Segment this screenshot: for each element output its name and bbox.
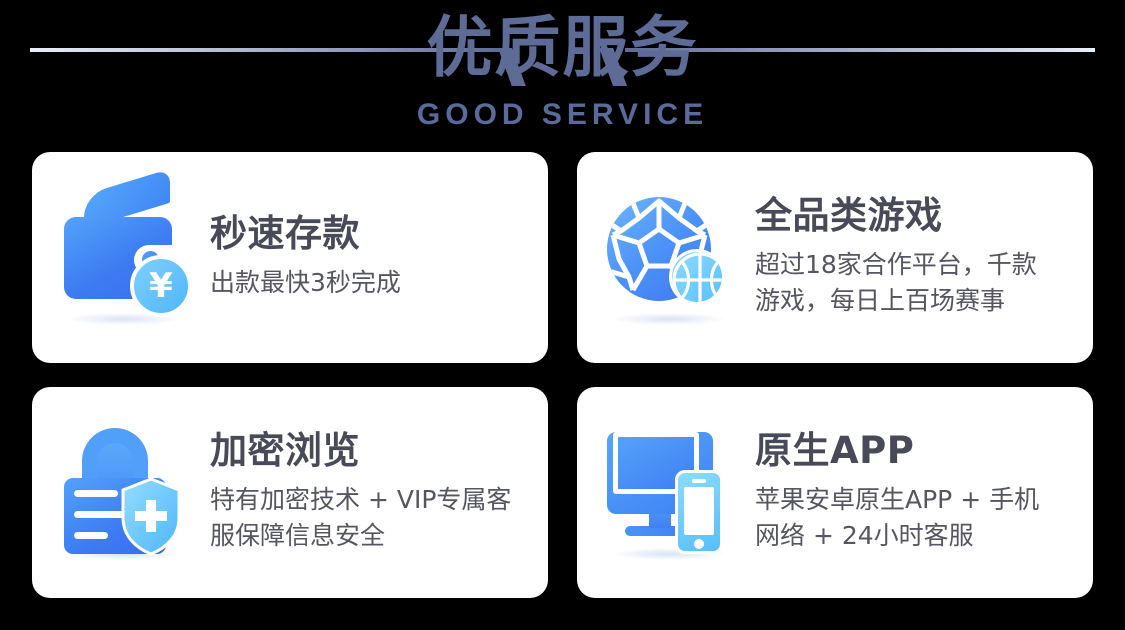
- subtitle-line: 特有加密技术 + VIP专属客: [210, 482, 538, 518]
- feature-card-text: 原生APP 苹果安卓原生APP + 手机 网络 + 24小时客服: [745, 430, 1083, 554]
- subtitle-line: 网络 + 24小时客服: [755, 518, 1083, 554]
- monitor-phone-icon: [603, 422, 745, 564]
- smartphone-icon: [675, 470, 723, 554]
- shield-plus-icon: [120, 478, 182, 556]
- subtitle-line: 超过18家合作平台，千款: [755, 247, 1083, 283]
- subtitle-line: 游戏，每日上百场赛事: [755, 283, 1083, 319]
- page-subtitle: GOOD SERVICE: [0, 98, 1125, 132]
- basketball-icon: [669, 249, 725, 305]
- lock-line-icon: [74, 532, 108, 539]
- lock-line-icon: [74, 490, 118, 497]
- phone-speaker-icon: [692, 479, 706, 483]
- feature-card-encryption[interactable]: 加密浏览 特有加密技术 + VIP专属客 服保障信息安全: [32, 387, 548, 598]
- feature-card-subtitle: 超过18家合作平台，千款 游戏，每日上百场赛事: [755, 247, 1083, 320]
- subtitle-line: 苹果安卓原生APP + 手机: [755, 482, 1083, 518]
- page-header: 优质服务 GOOD SERVICE: [0, 0, 1125, 150]
- phone-screen-icon: [684, 487, 714, 535]
- feature-card-games[interactable]: 全品类游戏 超过18家合作平台，千款 游戏，每日上百场赛事: [577, 152, 1093, 363]
- lock-shield-icon: [58, 422, 200, 564]
- feature-card-grid: ¥ 秒速存款 出款最快3秒完成: [32, 152, 1093, 598]
- wallet-coin-icon: ¥: [58, 187, 200, 329]
- feature-card-title: 原生APP: [755, 430, 1083, 473]
- feature-card-subtitle: 出款最快3秒完成: [210, 265, 538, 301]
- feature-card-text: 全品类游戏 超过18家合作平台，千款 游戏，每日上百场赛事: [745, 195, 1083, 319]
- phone-home-button-icon: [694, 539, 704, 549]
- page-title: 优质服务: [0, 8, 1125, 88]
- subtitle-line: 服保障信息安全: [210, 518, 538, 554]
- feature-card-deposit[interactable]: ¥ 秒速存款 出款最快3秒完成: [32, 152, 548, 363]
- feature-card-subtitle: 苹果安卓原生APP + 手机 网络 + 24小时客服: [755, 482, 1083, 555]
- soccer-basketball-icon: [603, 187, 745, 329]
- monitor-neck-icon: [649, 512, 671, 528]
- feature-card-native-app[interactable]: 原生APP 苹果安卓原生APP + 手机 网络 + 24小时客服: [577, 387, 1093, 598]
- feature-card-title: 全品类游戏: [755, 195, 1083, 238]
- feature-card-title: 秒速存款: [210, 213, 538, 256]
- yen-coin-icon: ¥: [130, 255, 192, 317]
- feature-card-title: 加密浏览: [210, 430, 538, 473]
- feature-card-text: 秒速存款 出款最快3秒完成: [200, 213, 538, 301]
- icon-shadow: [613, 313, 725, 325]
- feature-card-subtitle: 特有加密技术 + VIP专属客 服保障信息安全: [210, 482, 538, 555]
- feature-card-text: 加密浏览 特有加密技术 + VIP专属客 服保障信息安全: [200, 430, 538, 554]
